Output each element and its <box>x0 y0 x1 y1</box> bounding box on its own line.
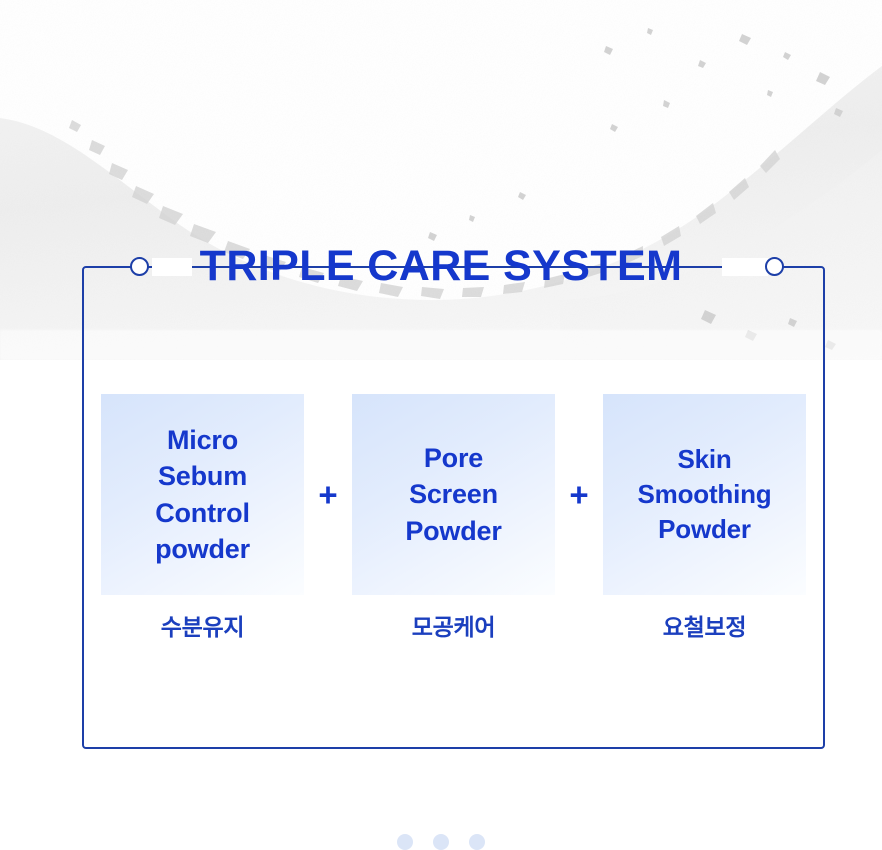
ingredient-card-row: Micro Sebum Control powder + Pore Screen… <box>82 394 825 595</box>
ingredient-caption-pore-care: 모공케어 <box>352 608 555 642</box>
carousel-dot-3[interactable] <box>469 834 485 850</box>
carousel-dot-2[interactable] <box>433 834 449 850</box>
triple-care-system-banner: TRIPLE CARE SYSTEM Micro Sebum Control p… <box>0 0 882 850</box>
ingredient-card-skin-smoothing-powder: Skin Smoothing Powder <box>603 394 806 595</box>
plus-operator-icon-2: + <box>555 478 603 511</box>
page-title: TRIPLE CARE SYSTEM <box>0 243 882 290</box>
ingredient-caption-row: 수분유지 모공케어 요철보정 <box>82 608 825 642</box>
ingredient-name: Skin Smoothing Powder <box>632 442 778 546</box>
ingredient-caption-moisture: 수분유지 <box>101 608 304 642</box>
ingredient-caption-texture-correction: 요철보정 <box>603 608 806 642</box>
carousel-dot-1[interactable] <box>397 834 413 850</box>
plus-operator-icon-1: + <box>304 478 352 511</box>
carousel-indicator[interactable] <box>0 834 882 850</box>
ingredient-card-micro-sebum-control-powder: Micro Sebum Control powder <box>101 394 304 595</box>
ingredient-name: Pore Screen Powder <box>399 440 507 549</box>
ingredient-card-pore-screen-powder: Pore Screen Powder <box>352 394 555 595</box>
ingredient-name: Micro Sebum Control powder <box>149 422 256 567</box>
